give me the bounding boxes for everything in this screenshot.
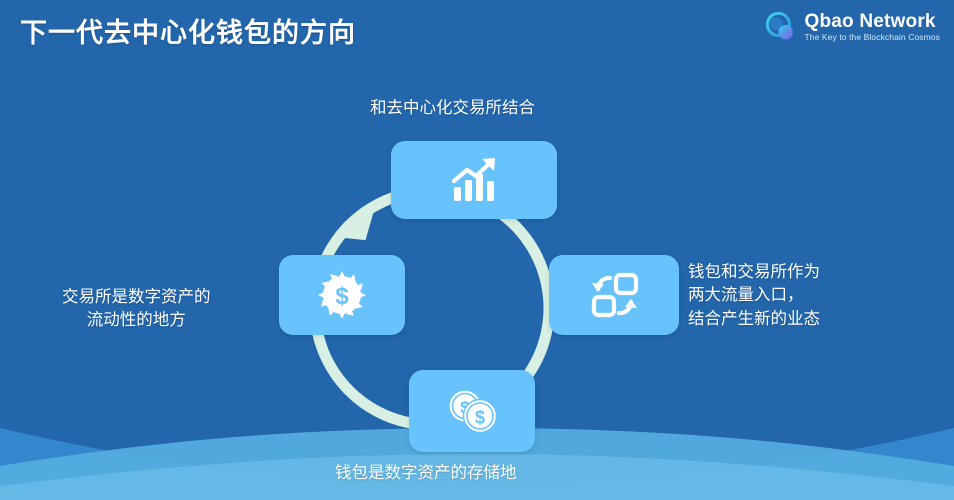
coins-dollar-icon: $ $ (442, 386, 502, 436)
cycle-label-right: 钱包和交易所作为 两大流量入口， 结合产生新的业态 (688, 261, 820, 331)
brand-name: Qbao Network (805, 12, 941, 31)
cycle-node-bottom[interactable]: $ $ (409, 370, 535, 452)
cycle-label-top: 和去中心化交易所结合 (370, 97, 535, 120)
slide-canvas: 下一代去中心化钱包的方向 Qbao Network The Key to the… (0, 0, 954, 500)
cycle-label-bottom: 钱包是数字资产的存储地 (335, 462, 517, 485)
exchange-swap-icon (586, 269, 642, 321)
qbao-circles-logo-icon (764, 10, 798, 44)
brand-logo: Qbao Network The Key to the Blockchain C… (764, 10, 941, 44)
cycle-label-left: 交易所是数字资产的 流动性的地方 (62, 286, 211, 333)
brand-tagline: The Key to the Blockchain Cosmos (805, 32, 941, 42)
dollar-badge-icon: $ (316, 269, 368, 321)
svg-text:$: $ (475, 408, 485, 428)
svg-text:$: $ (335, 283, 349, 310)
growth-bar-chart-icon (446, 155, 502, 205)
cycle-node-left[interactable]: $ (279, 255, 405, 335)
page-title: 下一代去中心化钱包的方向 (20, 11, 356, 50)
cycle-node-right[interactable] (549, 255, 679, 335)
cycle-node-top[interactable] (391, 141, 557, 219)
